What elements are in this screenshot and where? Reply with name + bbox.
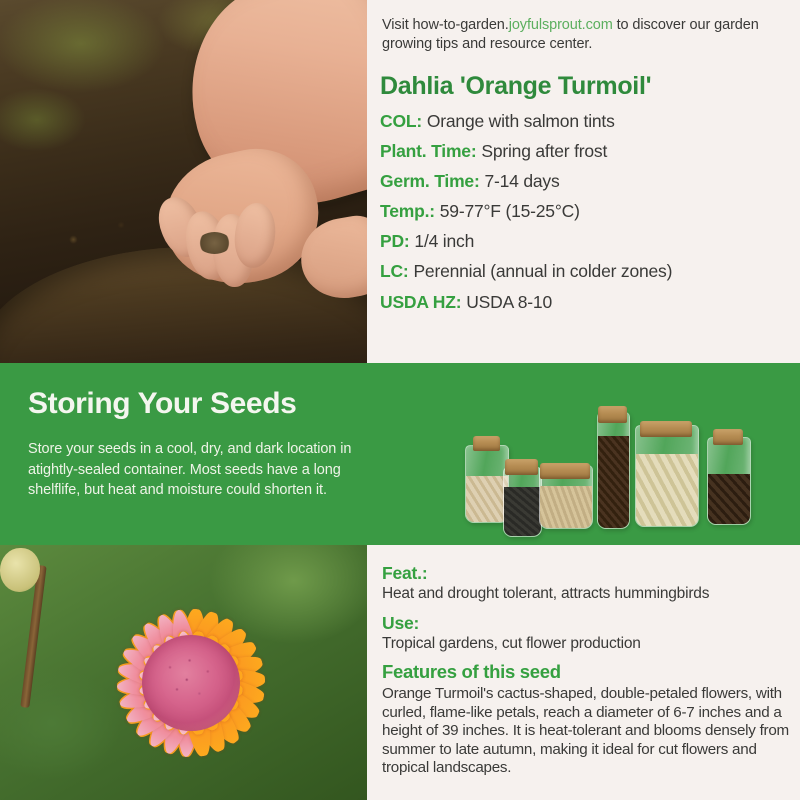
cork-stopper [540,463,590,479]
spec-row-temp: Temp.: 59-77°F (15-25°C) [380,202,792,222]
feat-value: Heat and drought tolerant, attracts humm… [382,585,790,604]
storage-band: Storing Your Seeds Store your seeds in a… [0,363,800,545]
cork-stopper [598,406,627,423]
center-florets [156,648,227,717]
seed-jars-illustration [455,371,790,541]
spec-value: Orange with salmon tints [427,111,615,131]
spec-value: 59-77°F (15-25°C) [440,201,580,221]
spec-label: PD: [380,231,410,251]
spec-label: COL: [380,111,422,131]
use-label: Use: [382,613,790,634]
soil-planting-photo [0,0,367,363]
spec-row-usda-hz: USDA HZ: USDA 8-10 [380,293,792,313]
spec-label: USDA HZ: [380,292,461,312]
spec-value: USDA 8-10 [466,292,552,312]
cork-stopper [473,436,500,451]
spec-label: Temp.: [380,201,435,221]
spec-row-plant-time: Plant. Time: Spring after frost [380,142,792,162]
dahlia-flower-photo [0,545,367,800]
spec-value: Spring after frost [481,141,607,161]
specs-panel: Visit how-to-garden.joyfulsprout.com to … [367,0,800,363]
cork-stopper [713,429,743,445]
spec-value: Perennial (annual in colder zones) [413,261,672,281]
storage-title: Storing Your Seeds [28,387,296,421]
feature-section: Feat.: Heat and drought tolerant, attrac… [382,563,790,604]
spec-row-lc: LC: Perennial (annual in colder zones) [380,262,792,282]
features-panel: Feat.: Heat and drought tolerant, attrac… [367,545,800,800]
seed-jar [707,437,751,525]
dahlia-bloom [26,545,356,800]
seed-packet-infographic: Visit how-to-garden.joyfulsprout.com to … [0,0,800,800]
page-title: Dahlia 'Orange Turmoil' [380,72,651,101]
seed-features-section: Features of this seed Orange Turmoil's c… [382,661,790,778]
feat-label: Feat.: [382,563,790,584]
brand-website-link[interactable]: joyfulsprout.com [509,17,613,33]
spec-label: Germ. Time: [380,171,480,191]
spec-row-germ-time: Germ. Time: 7-14 days [380,172,792,192]
spec-label: Plant. Time: [380,141,476,161]
seed-jar [503,467,542,537]
cork-stopper [640,421,692,437]
cork-stopper [505,459,538,475]
seed-jar [597,412,630,529]
flower-center [142,635,240,731]
storage-body-text: Store your seeds in a cool, dry, and dar… [28,439,368,501]
use-section: Use: Tropical gardens, cut flower produc… [382,613,790,654]
spec-row-pd: PD: 1/4 inch [380,232,792,252]
specification-list: COL: Orange with salmon tints Plant. Tim… [380,112,792,323]
use-value: Tropical gardens, cut flower production [382,635,790,654]
features-heading: Features of this seed [382,661,790,683]
seed-jar [635,425,699,527]
visit-prefix-text: Visit how-to-garden. [382,17,509,33]
spec-value: 1/4 inch [414,231,474,251]
spec-row-col: COL: Orange with salmon tints [380,112,792,132]
features-body: Orange Turmoil's cactus-shaped, double-p… [382,685,790,778]
spec-value: 7-14 days [484,171,559,191]
spec-label: LC: [380,261,409,281]
visit-website-line: Visit how-to-garden.joyfulsprout.com to … [382,16,782,55]
